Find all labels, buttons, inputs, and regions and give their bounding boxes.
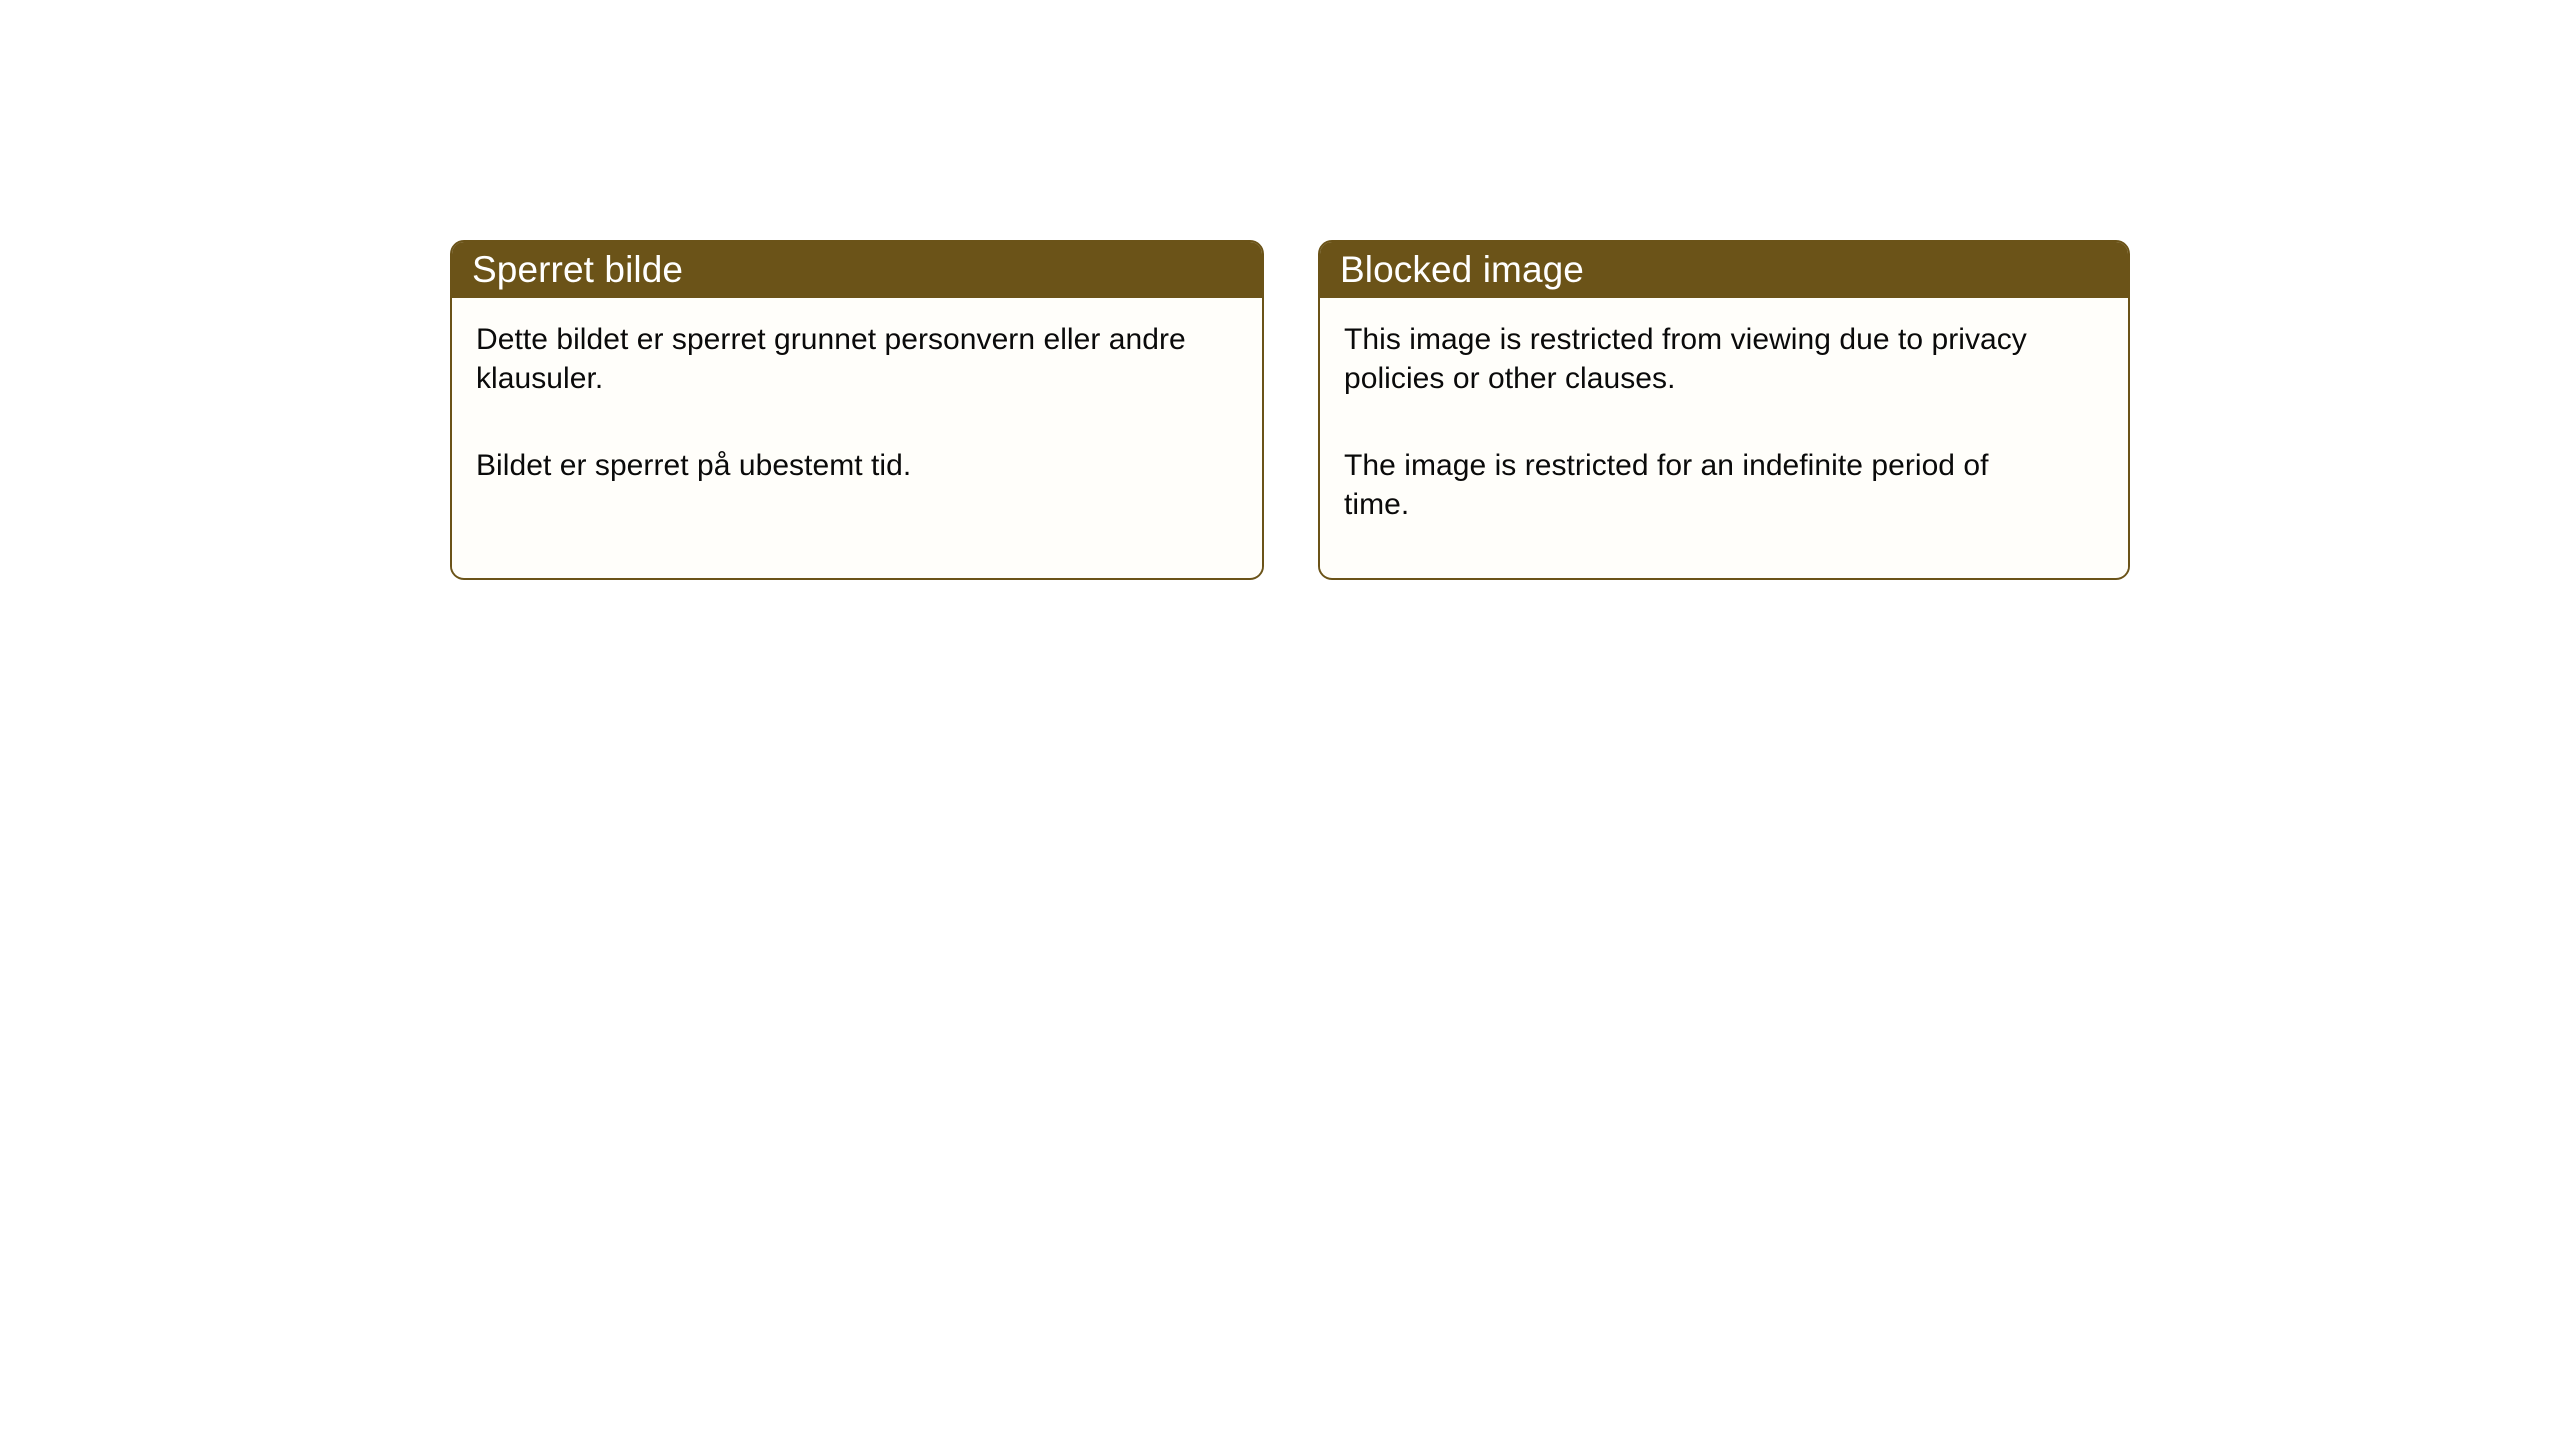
card-paragraph-secondary-english: The image is restricted for an indefinit… bbox=[1344, 446, 2100, 524]
blocked-image-notice-card-english: Blocked image This image is restricted f… bbox=[1318, 240, 2130, 580]
card-paragraph-primary-norwegian: Dette bildet er sperret grunnet personve… bbox=[476, 320, 1234, 398]
card-header-english: Blocked image bbox=[1318, 240, 2130, 298]
card-body-norwegian: Dette bildet er sperret grunnet personve… bbox=[452, 298, 1262, 576]
page-canvas: Sperret bilde Dette bildet er sperret gr… bbox=[0, 0, 2560, 1440]
card-paragraph-secondary-norwegian: Bildet er sperret på ubestemt tid. bbox=[476, 446, 1234, 485]
card-paragraph-primary-english: This image is restricted from viewing du… bbox=[1344, 320, 2100, 398]
card-header-norwegian: Sperret bilde bbox=[450, 240, 1264, 298]
card-title-norwegian: Sperret bilde bbox=[472, 251, 683, 288]
card-title-english: Blocked image bbox=[1340, 251, 1584, 288]
blocked-image-notice-card-norwegian: Sperret bilde Dette bildet er sperret gr… bbox=[450, 240, 1264, 580]
card-body-english: This image is restricted from viewing du… bbox=[1320, 298, 2128, 576]
